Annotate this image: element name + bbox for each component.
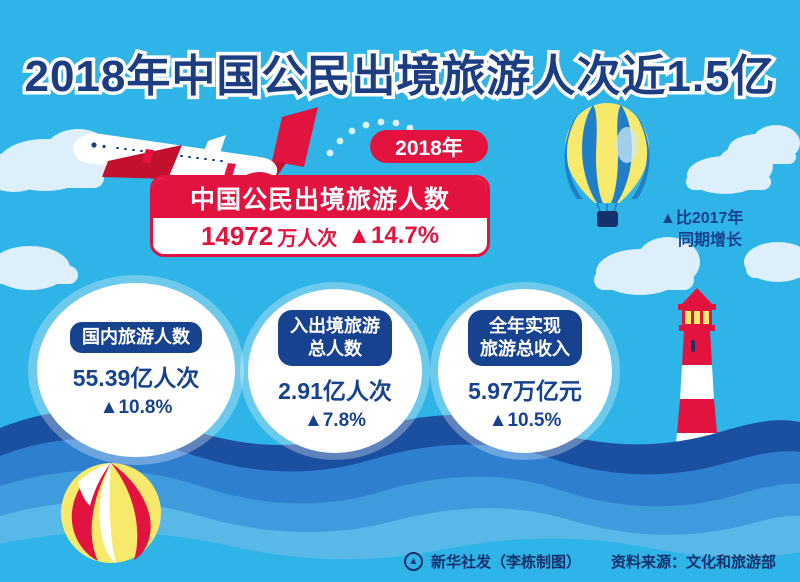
stat-circle-domestic-tourists: 国内旅游人数 55.39亿人次 ▲10.8% bbox=[28, 275, 244, 465]
page-title: 2018年中国公民出境旅游人次近1.5亿 bbox=[0, 40, 800, 104]
growth-annotation-line1: ▲比2017年 bbox=[660, 208, 790, 230]
stat-label-line: 总人数 bbox=[290, 338, 380, 361]
footer-credit: ▲ 新华社发（李栋制图） 资料来源：文化和旅游部 bbox=[0, 551, 800, 572]
footer-credit-text: 新华社发（李栋制图） bbox=[431, 551, 581, 572]
headline-stat-unit: 万人次 bbox=[277, 222, 337, 251]
stat-growth: ▲10.5% bbox=[489, 410, 562, 432]
growth-annotation-line2: 同期增长 bbox=[678, 230, 790, 252]
footer-source-text: 资料来源：文化和旅游部 bbox=[611, 551, 776, 572]
stat-value: 55.39亿人次 bbox=[73, 359, 200, 393]
stat-label-pill: 国内旅游人数 bbox=[70, 322, 202, 353]
stat-label-line: 旅游总收入 bbox=[480, 338, 570, 361]
stat-label-line: 国内旅游人数 bbox=[82, 326, 190, 349]
stat-label-pill: 全年实现 旅游总收入 bbox=[468, 310, 582, 366]
stat-value: 2.91亿人次 bbox=[278, 372, 392, 406]
headline-stat-body: 14972 万人次 ▲14.7% bbox=[153, 218, 487, 254]
circle-disc: 全年实现 旅游总收入 5.97万亿元 ▲10.5% bbox=[438, 289, 612, 453]
cloud-icon bbox=[686, 145, 773, 194]
hot-air-balloon-icon bbox=[563, 103, 653, 228]
stat-growth: ▲7.8% bbox=[304, 410, 366, 432]
growth-annotation: ▲比2017年 同期增长 bbox=[660, 208, 790, 252]
headline-stat-delta: ▲14.7% bbox=[347, 222, 439, 250]
stat-circle-entry-exit-total: 入出境旅游 总人数 2.91亿人次 ▲7.8% bbox=[240, 282, 430, 460]
stat-label-line: 入出境旅游 bbox=[290, 315, 380, 338]
circle-disc: 入出境旅游 总人数 2.91亿人次 ▲7.8% bbox=[248, 289, 422, 453]
circle-disc: 国内旅游人数 55.39亿人次 ▲10.8% bbox=[37, 283, 235, 457]
headline-stat-label: 中国公民出境旅游人数 bbox=[153, 178, 487, 218]
headline-stat-value: 14972 bbox=[201, 221, 273, 252]
headline-stat-card: 中国公民出境旅游人数 14972 万人次 ▲14.7% bbox=[150, 175, 490, 257]
year-badge: 2018年 bbox=[370, 130, 488, 163]
xinhua-logo-icon: ▲ bbox=[404, 552, 423, 571]
stat-growth: ▲10.8% bbox=[100, 397, 173, 419]
year-badge-label: 2018年 bbox=[395, 132, 463, 162]
stat-value: 5.97万亿元 bbox=[468, 372, 582, 406]
stat-label-line: 全年实现 bbox=[480, 315, 570, 338]
stat-circle-total-revenue: 全年实现 旅游总收入 5.97万亿元 ▲10.5% bbox=[430, 282, 620, 460]
infographic-canvas: 2018年中国公民出境旅游人次近1.5亿 2018年 中国公民出境旅游人数 14… bbox=[0, 0, 800, 582]
stat-label-pill: 入出境旅游 总人数 bbox=[278, 310, 392, 366]
